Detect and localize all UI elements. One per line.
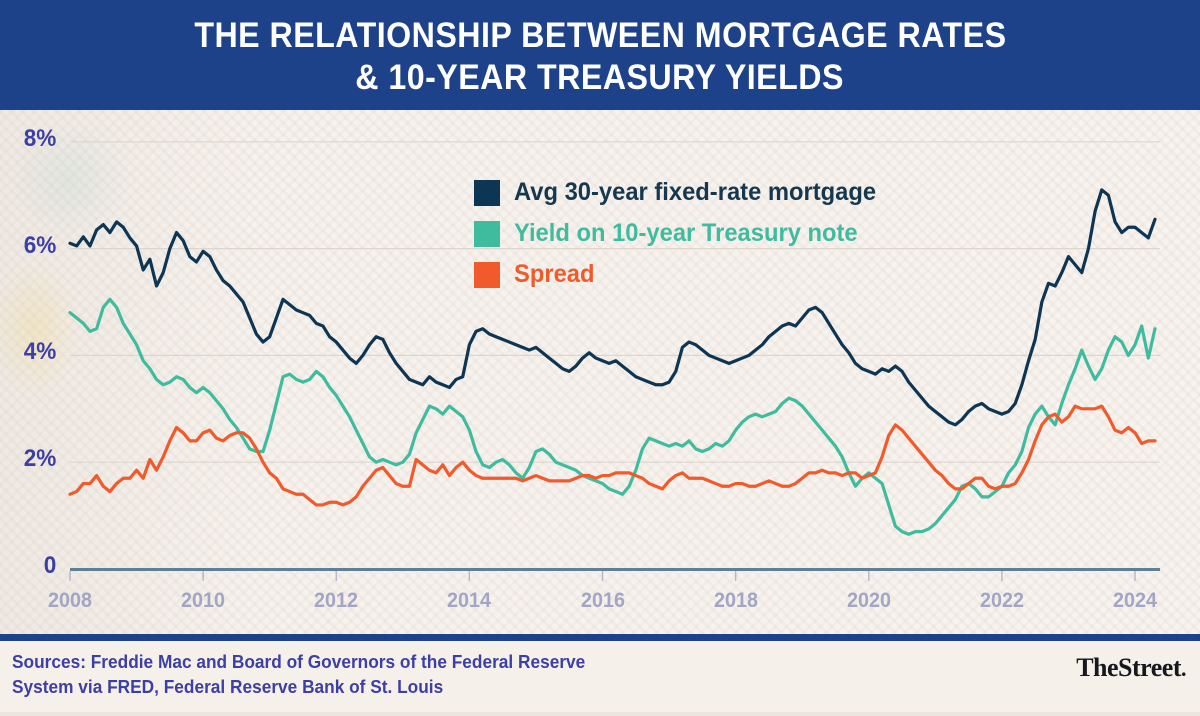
chart-canvas: 8%6%4%2%0 200820102012201420162018202020… [0,110,1200,634]
page-title-line-1: THE RELATIONSHIP BETWEEN MORTGAGE RATES [194,15,1006,57]
infographic-page: THE RELATIONSHIP BETWEEN MORTGAGE RATES … [0,0,1200,716]
header-banner: THE RELATIONSHIP BETWEEN MORTGAGE RATES … [0,0,1200,110]
legend-item-mortgage: Avg 30-year fixed-rate mortgage [474,172,895,213]
footer-divider [0,634,1200,641]
legend-swatch-mortgage-icon [474,180,500,206]
legend-swatch-spread-icon [474,262,500,288]
legend-label-treasury: Yield on 10-year Treasury note [514,219,858,248]
page-title-line-2: & 10-YEAR TREASURY YIELDS [356,57,845,99]
footer-sources-line-2: System via FRED, Federal Reserve Bank of… [12,675,585,700]
footer-sources-line-1: Sources: Freddie Mac and Board of Govern… [12,650,585,675]
y-axis-tick-label: 8% [4,125,57,153]
legend-label-spread: Spread [514,260,595,289]
legend-label-mortgage: Avg 30-year fixed-rate mortgage [514,178,876,207]
x-axis-ticks [70,571,1135,581]
x-axis-tick-label: 2020 [831,589,906,613]
legend-swatch-treasury-icon [474,221,500,247]
chart-legend: Avg 30-year fixed-rate mortgage Yield on… [474,172,895,295]
x-axis-tick-label: 2014 [432,589,507,613]
x-axis-tick-label: 2018 [698,589,773,613]
y-axis-tick-label: 4% [4,338,57,366]
legend-item-spread: Spread [474,254,895,295]
x-axis-tick-label: 2008 [32,589,107,613]
series-line [70,299,1155,534]
x-axis-tick-label: 2022 [964,589,1039,613]
thestreet-logo: TheStreet. [1076,653,1186,683]
x-axis-tick-label: 2024 [1097,589,1172,613]
legend-item-treasury: Yield on 10-year Treasury note [474,213,895,254]
thestreet-logo-text: TheStreet [1076,653,1181,682]
footer-bar: Sources: Freddie Mac and Board of Govern… [0,641,1200,716]
x-axis-tick-label: 2010 [166,589,241,613]
x-axis-tick-label: 2012 [299,589,374,613]
y-axis-tick-label: 2% [4,445,57,473]
footer-bottom-edge [0,712,1200,716]
thestreet-logo-dot: . [1181,656,1186,681]
x-axis-tick-label: 2016 [565,589,640,613]
y-axis-tick-label: 6% [4,232,57,260]
footer-sources: Sources: Freddie Mac and Board of Govern… [12,650,585,700]
y-axis-tick-label: 0 [4,552,57,580]
